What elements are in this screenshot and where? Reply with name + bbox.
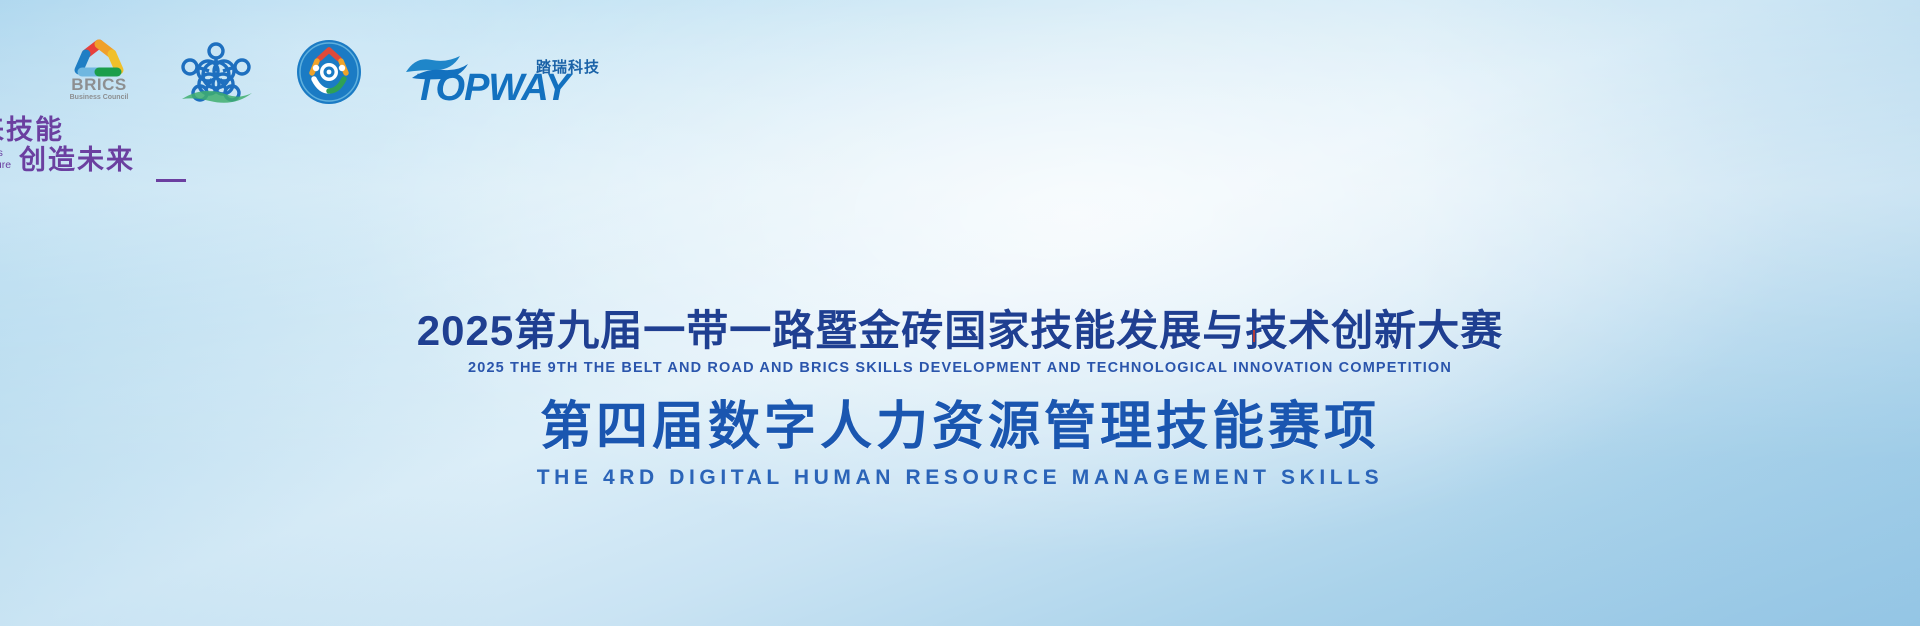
brics-logo-line2: Business Council <box>62 94 136 101</box>
brics-logo-text: BRICS Business Council <box>62 76 136 101</box>
slogan-english: FutureSkills for the Future <box>0 148 11 175</box>
alliance-knot-icon <box>176 37 256 105</box>
banner-titles: 2025第九届一带一路暨金砖国家技能发展与技术创新大赛 2025 THE 9TH… <box>0 308 1920 490</box>
sponsor-logo-row: BRICS Business Council <box>62 36 1920 110</box>
topway-chinese-name: 踏瑞科技 <box>536 56 600 77</box>
slogan-line-2: 创造未来 <box>19 146 135 174</box>
slogan-english-line-2: for the Future <box>0 160 11 172</box>
brics-logo-line1: BRICS <box>62 76 136 94</box>
brics-star-icon: BRICS Business Council <box>62 36 136 110</box>
bottom-marker <box>1253 330 1255 342</box>
event-subtitle: 第四届数字人力资源管理技能赛项 <box>0 398 1920 458</box>
competition-banner: BRICS Business Council <box>0 0 1920 626</box>
event-subtitle-english: THE 4RD DIGITAL HUMAN RESOURCE MANAGEMEN… <box>0 466 1920 490</box>
training-center-emblem-icon <box>296 39 362 105</box>
belt-road-brics-alliance-logo <box>136 37 256 110</box>
brics-business-council-logo: BRICS Business Council <box>62 36 136 110</box>
slogan-bottom-rule <box>156 179 186 182</box>
page-title: 2025第九届一带一路暨金砖国家技能发展与技术创新大赛 <box>0 308 1920 354</box>
slogan-line-1: 未来技能 <box>0 116 188 144</box>
future-skills-slogan: 未来技能 FutureSkills for the Future 创造未来 <box>0 108 188 182</box>
topway-logo: TOPWAY 踏瑞科技 <box>402 48 602 110</box>
page-title-english: 2025 THE 9TH THE BELT AND ROAD AND BRICS… <box>0 360 1920 376</box>
skills-training-center-logo <box>256 39 362 110</box>
